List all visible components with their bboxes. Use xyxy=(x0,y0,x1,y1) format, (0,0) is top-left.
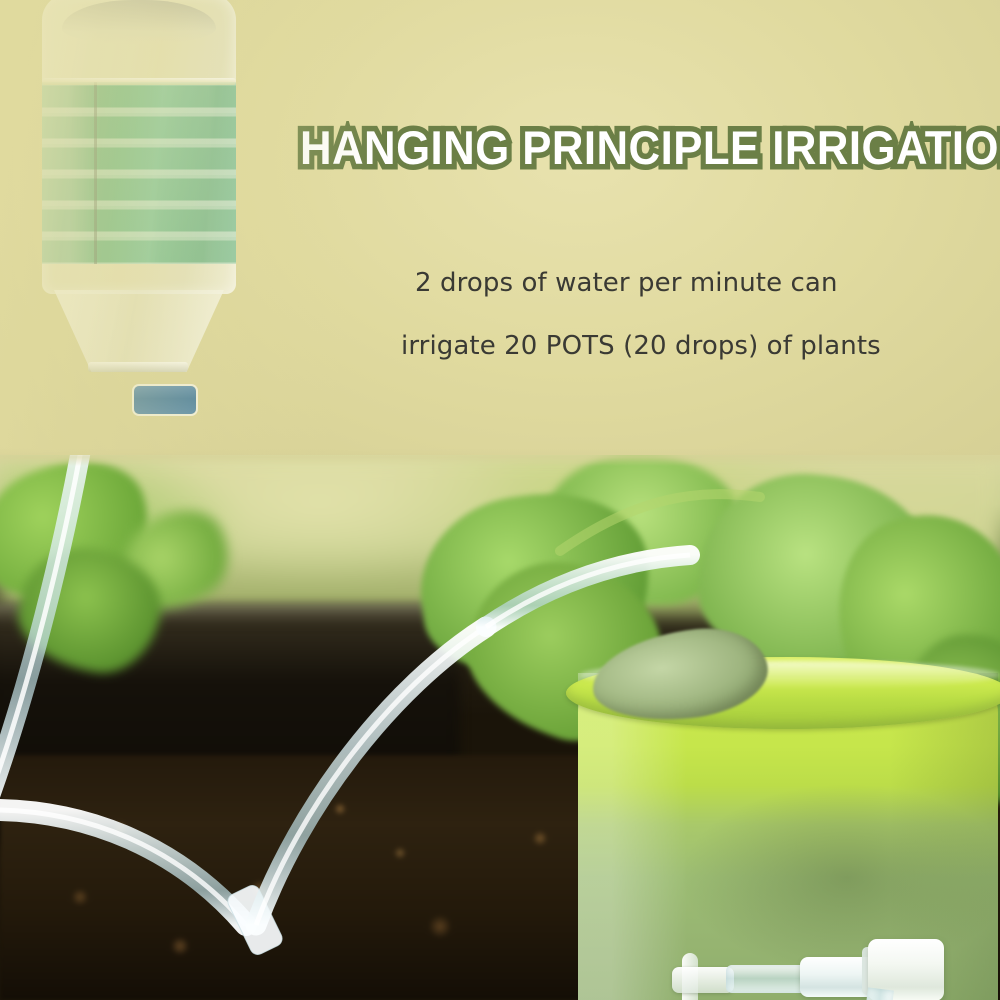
photo-panel xyxy=(0,455,1000,1000)
tube-to-valve-highlight xyxy=(256,627,486,925)
valve-barb xyxy=(672,967,734,993)
tube-background-loop xyxy=(560,494,760,551)
tube-lower-left xyxy=(0,810,246,925)
banner-subtitle-line-1: 2 drops of water per minute can xyxy=(415,268,838,298)
tube-valve-approach xyxy=(486,555,690,627)
banner-subtitle-line-2: irrigate 20 POTS (20 drops) of plants xyxy=(401,331,881,361)
bottle-green-liquid xyxy=(42,82,236,264)
banner-title: HANGING PRINCIPLE IRRIGATION xyxy=(300,120,1000,175)
bottle-base-dish xyxy=(62,0,216,44)
tube-from-bottle xyxy=(0,455,92,807)
bottle-shoulder xyxy=(54,290,224,372)
drip-tubing-group xyxy=(0,455,1000,1000)
drip-valve-assembly xyxy=(672,931,962,1000)
tube-to-valve xyxy=(256,627,486,925)
bottle-water-line xyxy=(42,78,236,85)
bottle-neck-ring xyxy=(88,362,188,372)
inverted-bottle-illustration xyxy=(36,0,242,414)
top-graphic-panel: HANGING PRINCIPLE IRRIGATION 2 drops of … xyxy=(0,0,1000,460)
product-banner: HANGING PRINCIPLE IRRIGATION 2 drops of … xyxy=(0,0,1000,1000)
blue-bottle-cap-icon xyxy=(134,386,196,414)
